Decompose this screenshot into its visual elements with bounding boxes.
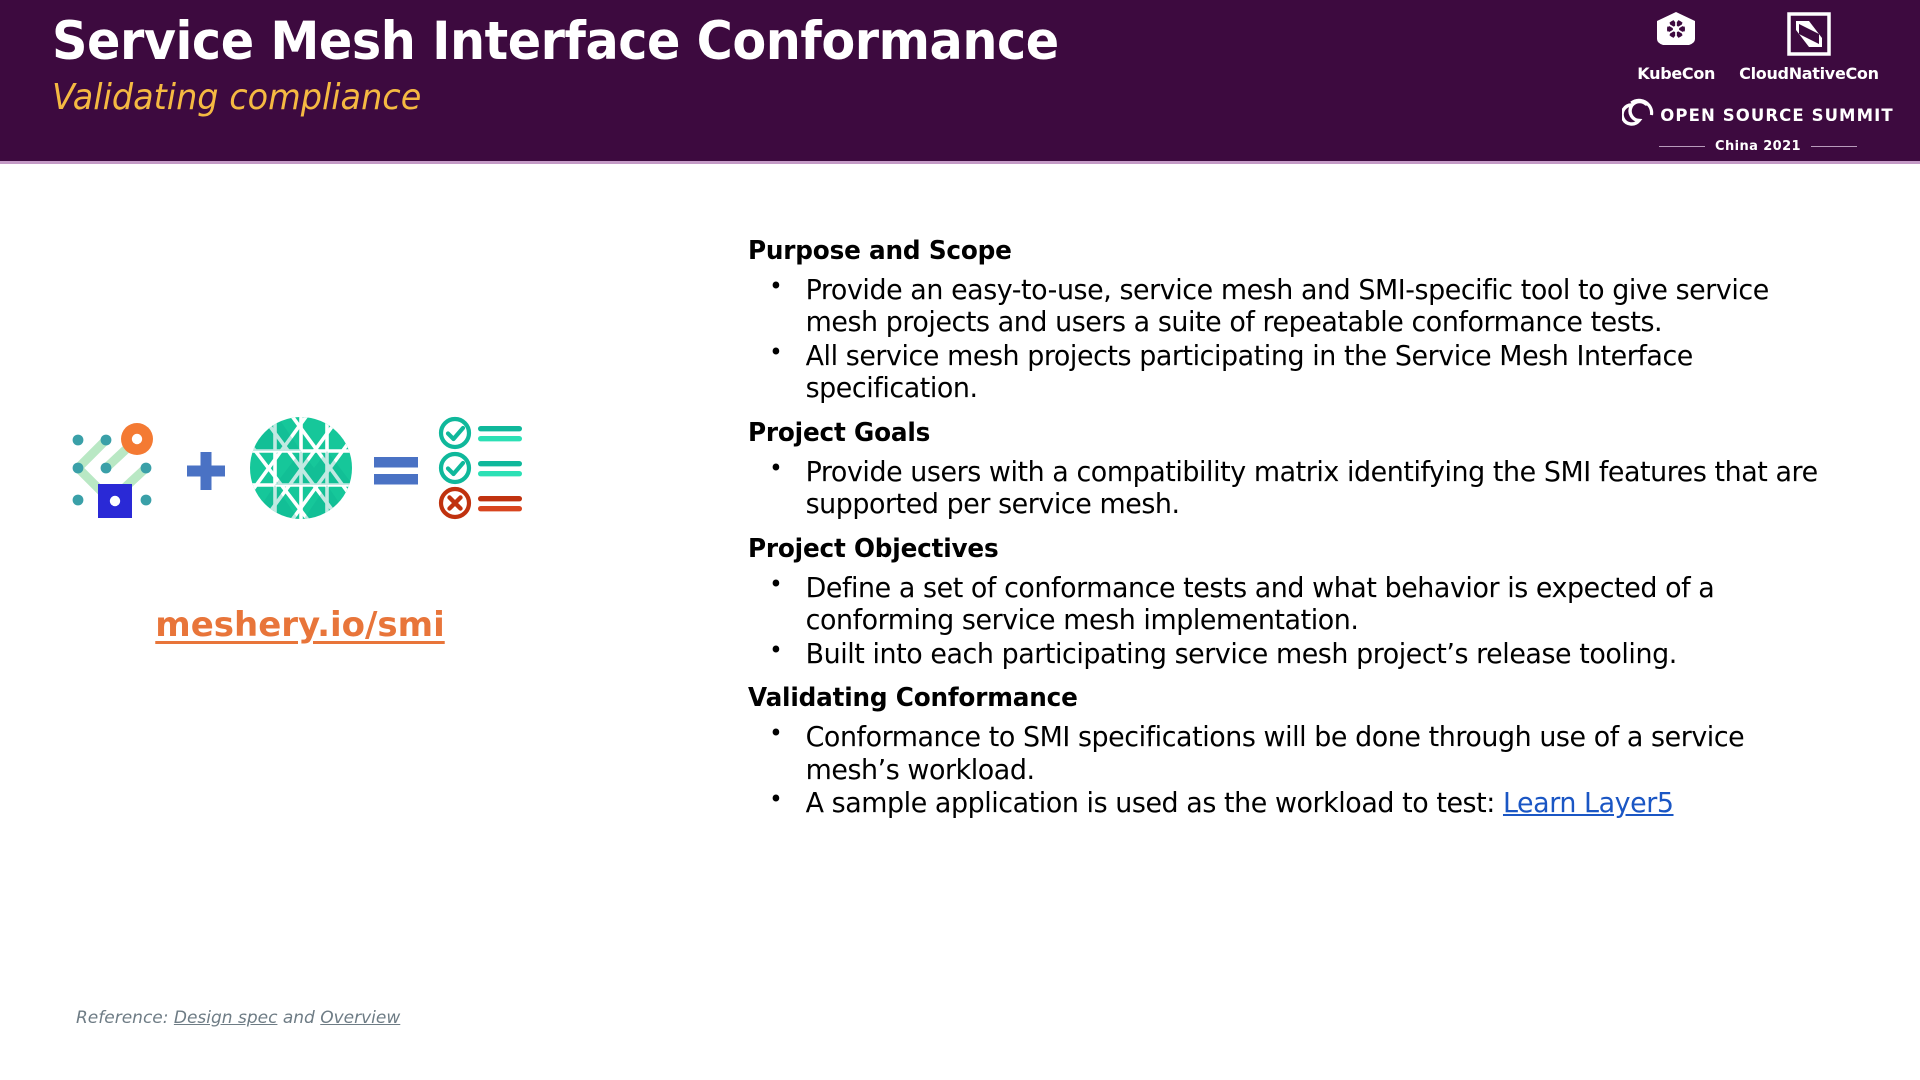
section-heading: Project Objectives: [748, 534, 1812, 564]
title-block: Service Mesh Interface Conformance Valid…: [52, 14, 1134, 117]
cloudnativecon-logo-column: CloudNativeCon: [1727, 8, 1891, 83]
bullet-list: Provide an easy-to-use, service mesh and…: [748, 274, 1868, 405]
page-title: Service Mesh Interface Conformance: [52, 14, 1059, 70]
reference-joiner: and: [277, 1008, 320, 1028]
section-heading: Project Goals: [748, 418, 1812, 448]
year-rule-left: [1659, 146, 1705, 147]
year-label: China 2021: [1715, 139, 1801, 154]
meshery-smi-link[interactable]: meshery.io/smi: [0, 605, 600, 645]
page-subtitle: Validating compliance: [52, 78, 1059, 118]
list-item: Built into each participating service me…: [748, 638, 1823, 670]
section-project-objectives: Project Objectives Define a set of confo…: [748, 534, 1868, 670]
list-item: Conformance to SMI specifications will b…: [748, 721, 1823, 786]
cloudnativecon-label: CloudNativeCon: [1739, 64, 1879, 83]
bullet-list: Provide users with a compatibility matri…: [748, 456, 1868, 521]
bullet-list: Define a set of conformance tests and wh…: [748, 572, 1868, 670]
overview-link[interactable]: Overview: [320, 1008, 400, 1028]
bullet-list: Conformance to SMI specifications will b…: [748, 721, 1868, 819]
kubecon-label: KubeCon: [1637, 64, 1715, 83]
smi-sphere-icon: [246, 413, 356, 528]
logo-top-row: KubeCon CloudNativeCon: [1632, 8, 1884, 94]
list-item-with-link: A sample application is used as the work…: [748, 787, 1823, 819]
kubecon-logo-column: KubeCon: [1625, 8, 1727, 83]
conformance-results-icon: [436, 416, 528, 526]
list-item: All service mesh projects participating …: [748, 340, 1823, 405]
list-item: Provide an easy-to-use, service mesh and…: [748, 274, 1823, 339]
list-item: Provide users with a compatibility matri…: [748, 456, 1823, 521]
equation-illustration: [58, 413, 528, 528]
list-item: Define a set of conformance tests and wh…: [748, 572, 1823, 637]
design-spec-link[interactable]: Design spec: [174, 1008, 278, 1028]
conference-logo: KubeCon CloudNativeCon: [1632, 8, 1884, 154]
section-heading: Validating Conformance: [748, 683, 1812, 713]
meshery-network-icon: [58, 414, 166, 527]
section-project-goals: Project Goals Provide users with a compa…: [748, 418, 1868, 521]
section-heading: Purpose and Scope: [748, 236, 1812, 266]
content-column: Purpose and Scope Provide an easy-to-use…: [748, 236, 1868, 833]
oss-row: OPEN SOURCE SUMMIT: [1632, 96, 1884, 135]
cncf-square-icon: [1787, 8, 1831, 60]
oss-s-icon: [1622, 96, 1656, 135]
reference-line: Reference: Design spec and Overview: [76, 1008, 400, 1028]
section-purpose-and-scope: Purpose and Scope Provide an easy-to-use…: [748, 236, 1868, 405]
section-validating-conformance: Validating Conformance Conformance to SM…: [748, 683, 1868, 819]
year-rule-right: [1811, 146, 1857, 147]
equals-sign: [370, 441, 422, 501]
kubernetes-helm-icon: [1651, 8, 1701, 60]
plus-sign: [180, 441, 232, 501]
year-row: China 2021: [1632, 139, 1884, 154]
reference-prefix: Reference:: [76, 1008, 174, 1028]
slide-header: Service Mesh Interface Conformance Valid…: [0, 0, 1920, 163]
learn-layer5-link[interactable]: Learn Layer5: [1503, 786, 1674, 819]
left-panel: meshery.io/smi: [0, 163, 740, 1080]
list-item-text: A sample application is used as the work…: [806, 786, 1503, 819]
open-source-summit-label: OPEN SOURCE SUMMIT: [1660, 106, 1893, 125]
